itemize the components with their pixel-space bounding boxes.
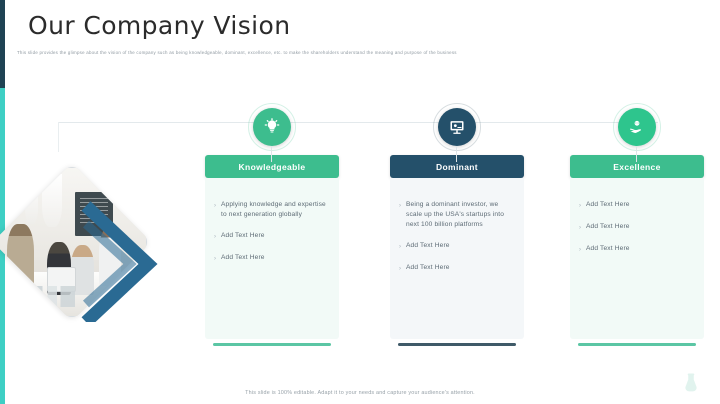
bullet-text: Add Text Here [586,200,630,210]
card-body-excellence: › Add Text Here › Add Text Here › Add Te… [570,178,704,339]
bullet-text: Add Text Here [586,222,630,232]
bullet-text: Add Text Here [586,244,630,254]
photo-person-1 [7,224,34,291]
bullet-text: Add Text Here [221,253,265,263]
bullet-marker-icon: › [579,200,586,211]
photo-lamp-2 [25,186,38,224]
list-item[interactable]: › Add Text Here [214,231,330,242]
list-item[interactable]: › Add Text Here [579,244,695,255]
card-title-excellence: Excellence [570,155,704,178]
stem-knowledgeable [271,146,272,162]
bullet-marker-icon: › [214,200,221,211]
photo-diamond-wrap [16,186,156,326]
list-item[interactable]: › Add Text Here [399,263,515,274]
pillar-card-knowledgeable[interactable]: Knowledgeable › Applying knowledge and e… [205,155,339,339]
page-title: Our Company Vision [28,11,290,40]
photo-inner [0,168,146,316]
pillar-card-dominant[interactable]: Dominant › Being a dominant investor, we… [390,155,524,339]
bullet-marker-icon: › [214,253,221,264]
bullet-text: Being a dominant investor, we scale up t… [406,200,515,230]
presentation-board-icon [438,108,476,146]
list-item[interactable]: › Add Text Here [214,253,330,264]
bullet-marker-icon: › [214,231,221,242]
stem-excellence [636,146,637,162]
card-accent-bar-excellence [578,343,696,346]
lamp-watermark-icon [680,372,702,398]
bullet-marker-icon: › [399,241,406,252]
stem-dominant [456,146,457,162]
card-title-knowledgeable: Knowledgeable [205,155,339,178]
slide-canvas: Our Company Vision This slide provides t… [0,0,720,404]
card-title-dominant: Dominant [390,155,524,178]
lightbulb-icon [253,108,291,146]
bullet-text: Add Text Here [406,263,450,273]
connector-elbow [58,122,59,152]
pillar-card-excellence[interactable]: Excellence › Add Text Here › Add Text He… [570,155,704,339]
left-edge-accent-top [0,0,5,88]
bullet-marker-icon: › [579,222,586,233]
card-body-knowledgeable: › Applying knowledge and expertise to ne… [205,178,339,339]
bullet-text: Add Text Here [221,231,265,241]
card-body-dominant: › Being a dominant investor, we scale up… [390,178,524,339]
photo-papers [10,286,75,307]
bullet-marker-icon: › [579,244,586,255]
list-item[interactable]: › Add Text Here [579,222,695,233]
list-item[interactable]: › Applying knowledge and expertise to ne… [214,200,330,220]
card-accent-bar-dominant [398,343,516,346]
hand-holding-person-icon [618,108,656,146]
list-item[interactable]: › Add Text Here [399,241,515,252]
business-meeting-photo [0,163,151,321]
bullet-text: Add Text Here [406,241,450,251]
card-accent-bar-knowledgeable [213,343,331,346]
list-item[interactable]: › Being a dominant investor, we scale up… [399,200,515,230]
photo-lamp-1 [42,174,61,227]
photo-person-4 [99,227,121,286]
connector-line [58,122,658,123]
page-subtitle: This slide provides the glimpse about th… [17,49,707,56]
bullet-text: Applying knowledge and expertise to next… [221,200,330,220]
list-item[interactable]: › Add Text Here [579,200,695,211]
bullet-marker-icon: › [399,263,406,274]
footer-note: This slide is 100% editable. Adapt it to… [0,390,720,396]
bullet-marker-icon: › [399,200,406,211]
